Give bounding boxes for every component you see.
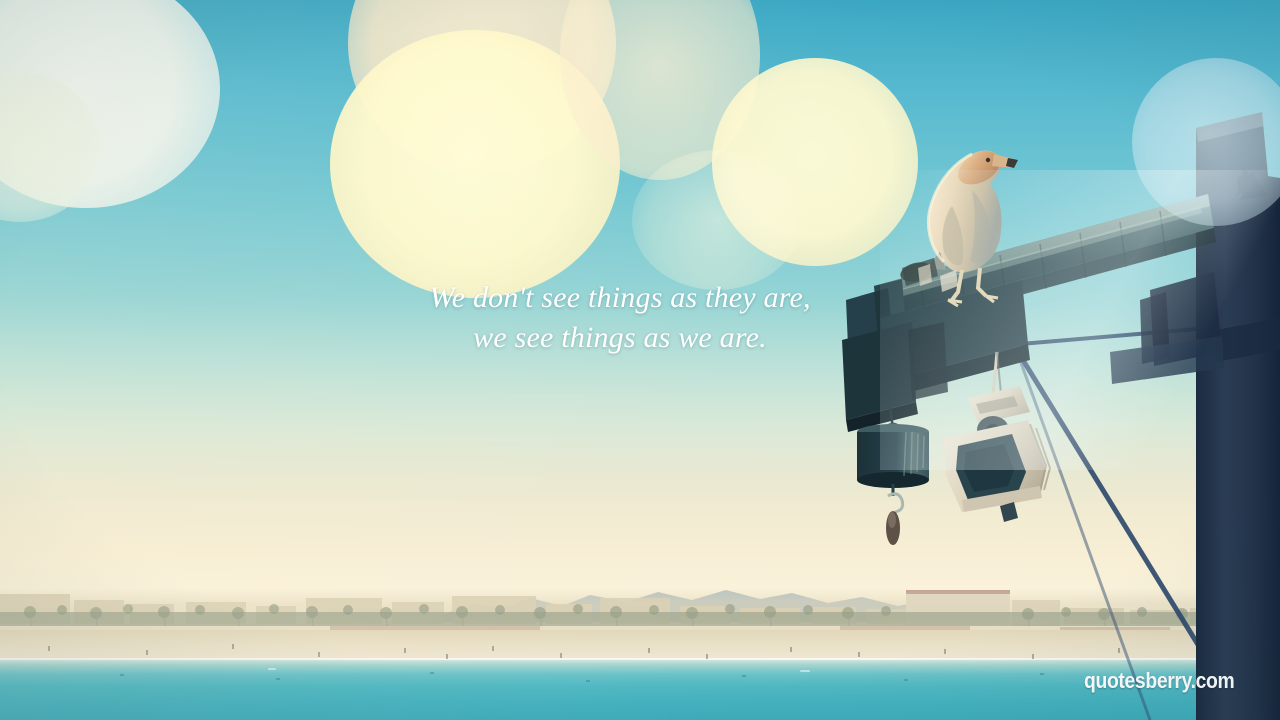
- quote-text: We don't see things as they are, we see …: [340, 278, 900, 357]
- quote-line-1: We don't see things as they are,: [340, 278, 900, 318]
- wallpaper-canvas: We don't see things as they are, we see …: [0, 0, 1280, 720]
- hanging-cylinder-weight: [857, 408, 929, 545]
- pier-structure: [0, 0, 1280, 720]
- quote-line-2: we see things as we are.: [340, 318, 900, 358]
- watermark: quotesberry.com: [1084, 668, 1234, 694]
